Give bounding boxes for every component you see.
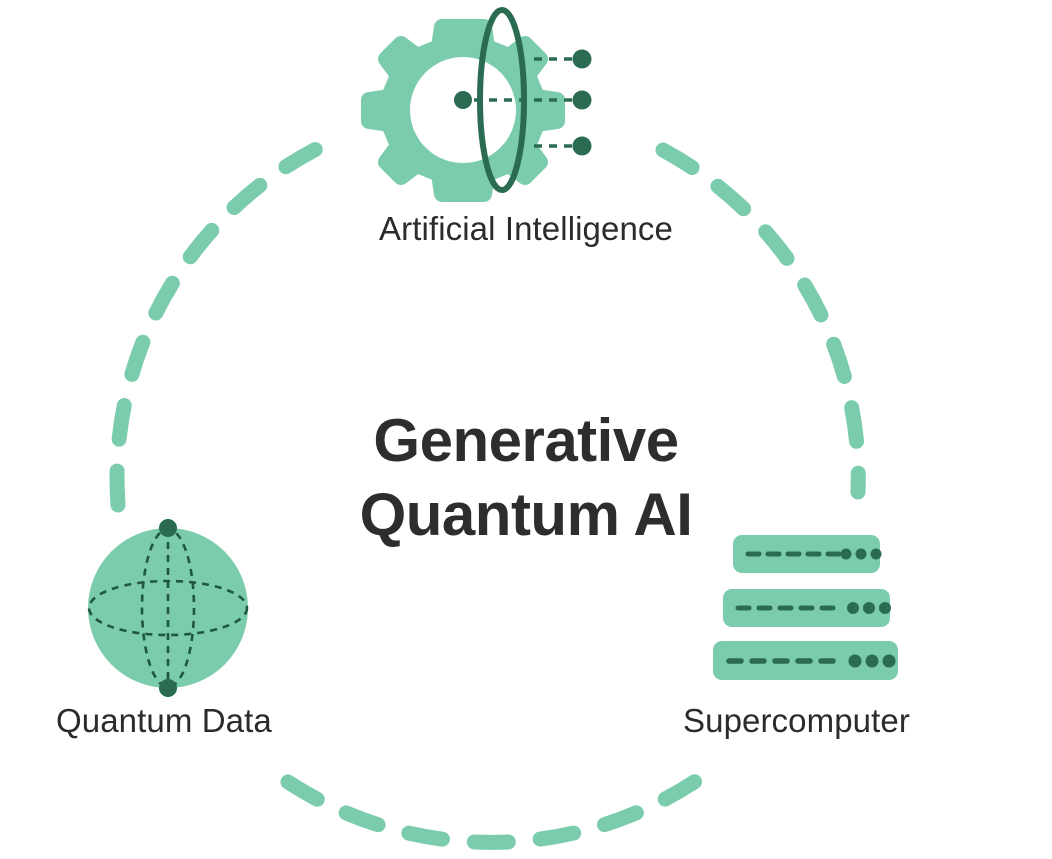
diagram-canvas: Artificial Intelligence Quantum Data Sup… [0,0,1052,859]
page-title-line-1: Generative [0,404,1052,478]
server-rack-2[interactable] [723,589,891,627]
node-label-quantum-data: Quantum Data [56,702,272,740]
server-rack-2-leds [847,602,891,614]
server-rack-3[interactable] [713,641,898,680]
page-title: Generative Quantum AI [0,404,1052,552]
server-rack-3-leds [849,655,896,668]
node-label-supercomputer: Supercomputer [683,702,910,740]
node-label-artificial-intelligence: Artificial Intelligence [0,210,1052,248]
page-title-line-2: Quantum AI [0,478,1052,552]
